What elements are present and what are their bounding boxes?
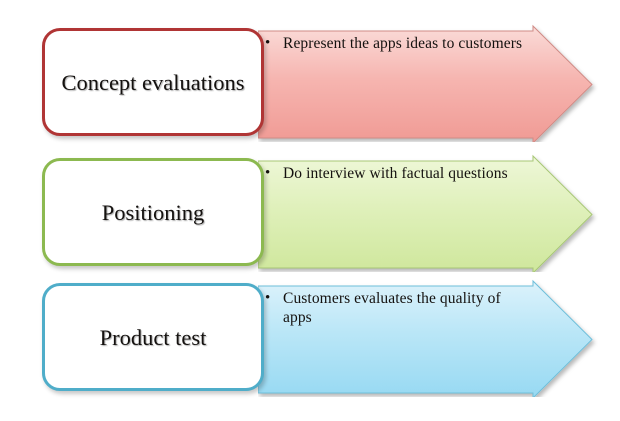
process-row-concept-evaluations: •Represent the apps ideas to customersCo… <box>0 20 620 142</box>
arrow-description-product-test: •Customers evaluates the quality of apps <box>264 289 526 327</box>
stage-label-positioning: Positioning <box>96 199 211 226</box>
bullet-icon: • <box>265 164 270 183</box>
arrow-description-text: Customers evaluates the quality of apps <box>283 289 526 327</box>
stage-box-product-test[interactable]: Product test <box>42 283 264 391</box>
process-row-positioning: •Do interview with factual questionsPosi… <box>0 150 620 272</box>
arrow-description-text: Do interview with factual questions <box>283 164 526 183</box>
bullet-icon: • <box>265 34 270 53</box>
arrow-description-positioning: •Do interview with factual questions <box>264 164 526 183</box>
bullet-icon: • <box>265 289 270 308</box>
arrow-description-text: Represent the apps ideas to customers <box>283 34 526 53</box>
arrow-callout-positioning[interactable]: •Do interview with factual questions <box>258 150 598 272</box>
arrow-callout-concept-evaluations[interactable]: •Represent the apps ideas to customers <box>258 20 598 142</box>
arrow-callout-product-test[interactable]: •Customers evaluates the quality of apps <box>258 275 598 397</box>
stage-box-positioning[interactable]: Positioning <box>42 158 264 266</box>
stage-label-concept-evaluations: Concept evaluations <box>55 69 250 96</box>
process-diagram: •Represent the apps ideas to customersCo… <box>0 0 620 421</box>
arrow-description-concept-evaluations: •Represent the apps ideas to customers <box>264 34 526 53</box>
stage-label-product-test: Product test <box>94 324 213 351</box>
stage-box-concept-evaluations[interactable]: Concept evaluations <box>42 28 264 136</box>
process-row-product-test: •Customers evaluates the quality of apps… <box>0 275 620 397</box>
